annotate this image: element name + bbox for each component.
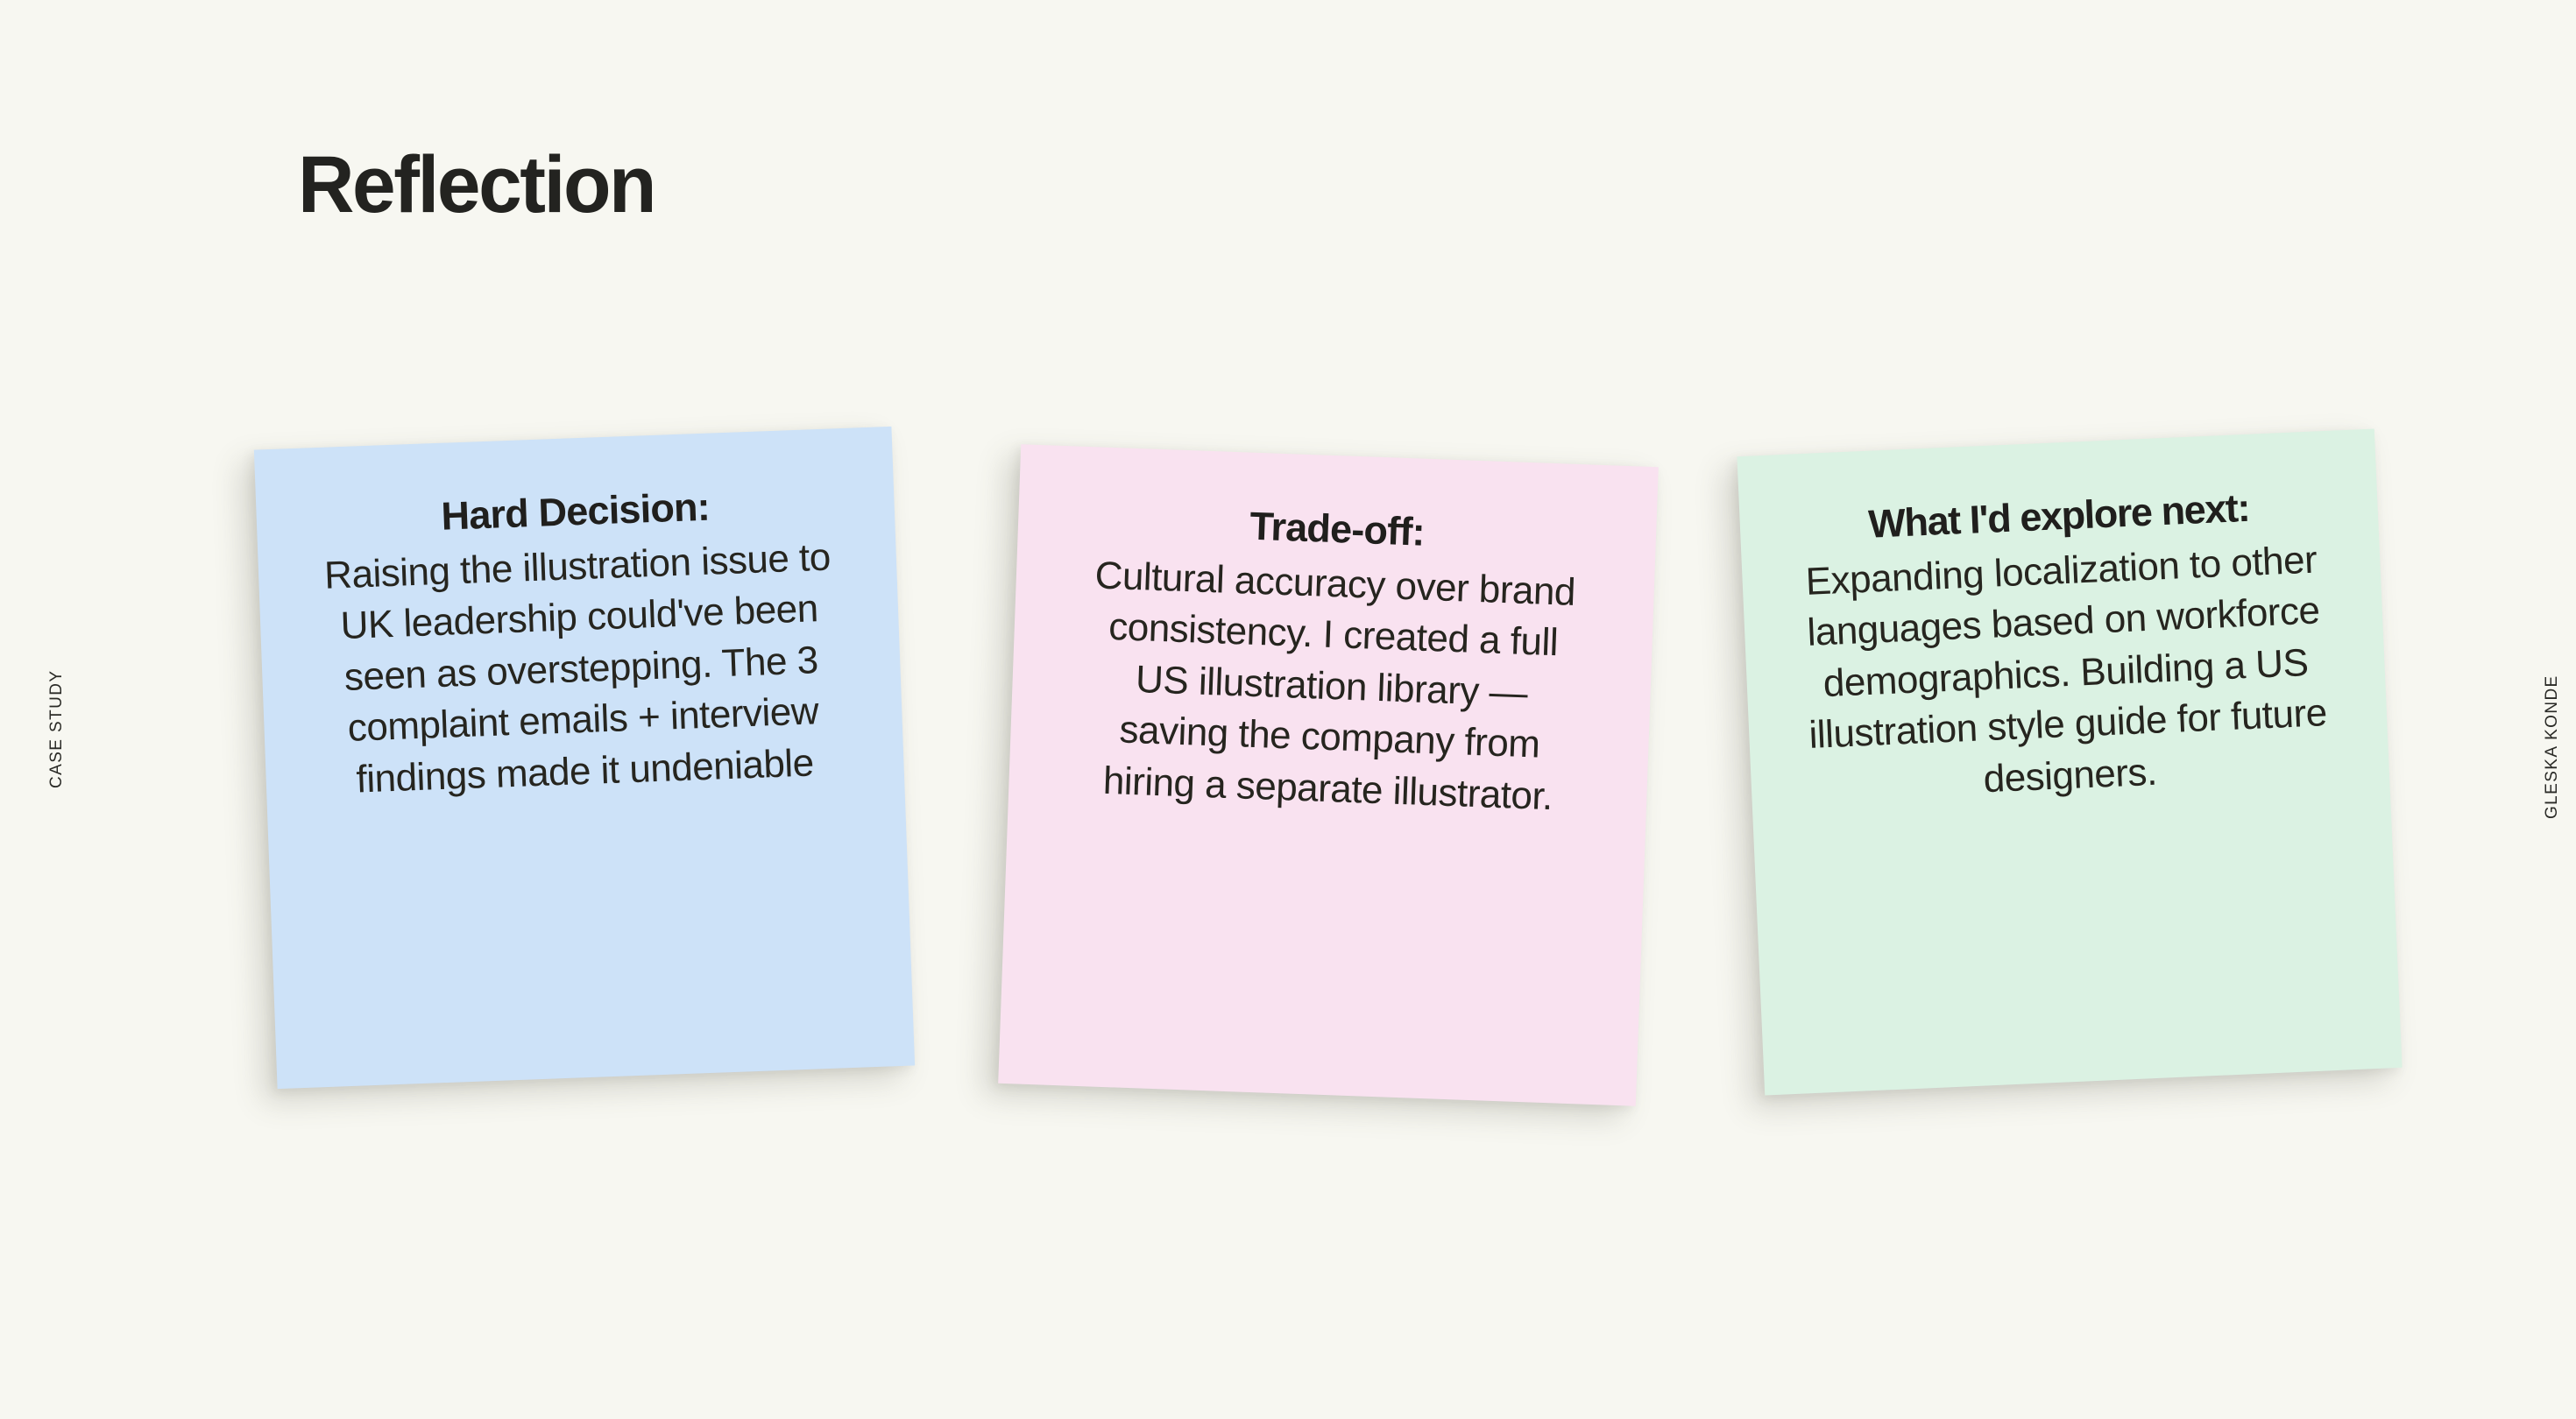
- card-heading: What I'd explore next:: [1867, 485, 2250, 547]
- card-heading: Trade-off:: [1249, 504, 1425, 555]
- slide-canvas: Reflection CASE STUDY GLESKA KONDE Hard …: [0, 0, 2576, 1419]
- reflection-card-explore-next: What I'd explore next: Expanding localiz…: [1737, 428, 2402, 1095]
- card-heading: Hard Decision:: [441, 484, 711, 540]
- reflection-cards: Hard Decision: Raising the illustration …: [0, 0, 2576, 1419]
- card-body: Cultural accuracy over brand consistency…: [1058, 549, 1606, 824]
- card-body: Raising the illustration issue to UK lea…: [307, 532, 855, 808]
- reflection-card-hard-decision: Hard Decision: Raising the illustration …: [254, 427, 915, 1089]
- reflection-card-trade-off: Trade-off: Cultural accuracy over brand …: [998, 444, 1659, 1106]
- card-body: Expanding localization to other language…: [1791, 534, 2341, 814]
